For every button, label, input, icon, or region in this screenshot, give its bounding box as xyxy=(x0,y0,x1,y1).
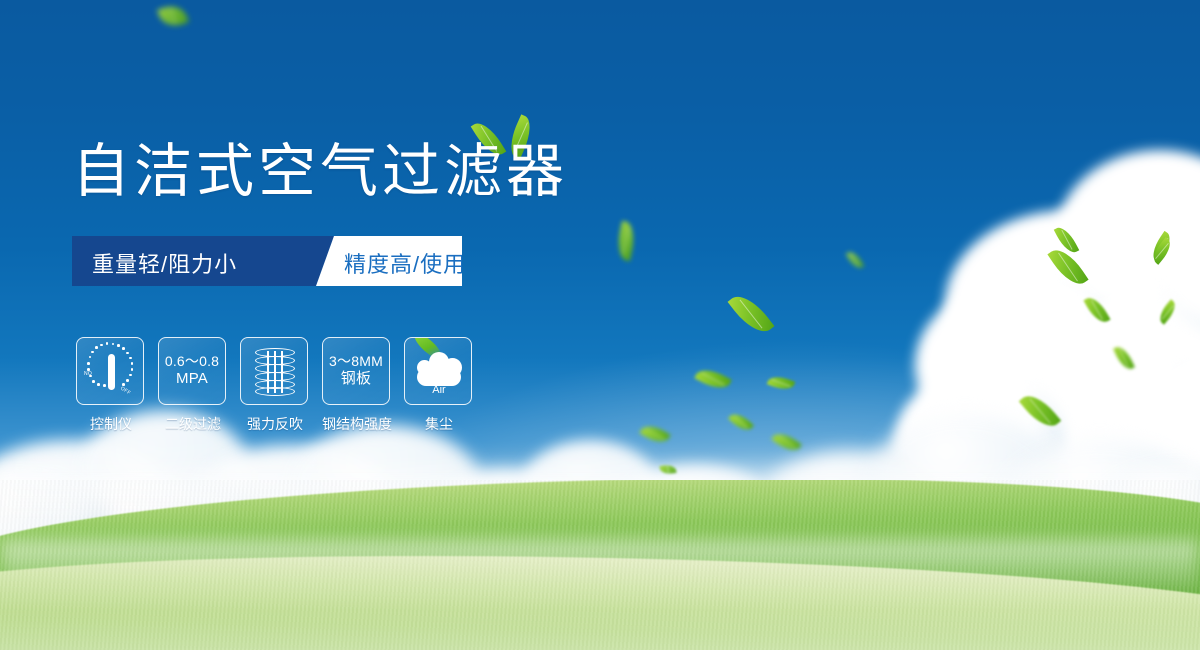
steel-plate-text-icon: 3～8MM 钢板 xyxy=(323,338,389,404)
gauge-label-no: NO xyxy=(84,371,92,377)
feature-icon-box: 3～8MM 钢板 xyxy=(322,337,390,405)
gauge-icon: NO OFF xyxy=(77,338,144,405)
tagline-bar: 重量轻/阻力小 精度高/使用方便 xyxy=(72,236,462,286)
feature-item-control-instrument[interactable]: NO OFF 控制仪 xyxy=(76,337,146,434)
steel-line-1: 3～8MM xyxy=(329,353,383,371)
feature-list: NO OFF 控制仪 0.6～0.8 MPA 二级过滤 xyxy=(76,337,474,434)
pressure-line-1: 0.6～0.8 xyxy=(165,353,219,371)
tagline-left-panel: 重量轻/阻力小 xyxy=(72,236,334,286)
coil-icon xyxy=(255,348,295,396)
feature-item-secondary-filtration[interactable]: 0.6～0.8 MPA 二级过滤 xyxy=(158,337,228,434)
feature-caption: 钢结构强度 xyxy=(310,414,404,434)
feature-icon-box: 0.6～0.8 MPA xyxy=(158,337,226,405)
feature-item-dust-collection[interactable]: Air 集尘 xyxy=(404,337,474,434)
feature-caption: 控制仪 xyxy=(76,414,146,434)
tagline-right-panel: 精度高/使用方便 xyxy=(316,236,462,286)
feature-icon-box xyxy=(240,337,308,405)
feature-item-steel-structure-strength[interactable]: 3～8MM 钢板 钢结构强度 xyxy=(322,337,392,434)
feature-icon-box: NO OFF xyxy=(76,337,144,405)
product-hero-banner: 自洁式空气过滤器 重量轻/阻力小 精度高/使用方便 xyxy=(0,0,1200,650)
air-badge-label: Air xyxy=(405,384,472,396)
feature-caption: 集尘 xyxy=(404,414,474,434)
steel-line-2: 钢板 xyxy=(341,370,371,389)
pressure-text-icon: 0.6～0.8 MPA xyxy=(159,338,225,404)
gauge-label-off: OFF xyxy=(119,386,131,397)
page-title: 自洁式空气过滤器 xyxy=(72,143,568,201)
pressure-line-2: MPA xyxy=(176,370,208,389)
gauge-needle xyxy=(108,354,115,390)
feature-caption: 二级过滤 xyxy=(158,414,228,434)
tagline-left-text: 重量轻/阻力小 xyxy=(92,247,237,279)
feature-icon-box: Air xyxy=(404,337,472,405)
feature-item-strong-backblow[interactable]: 强力反吹 xyxy=(240,337,310,434)
bottom-fade xyxy=(0,610,1200,650)
air-cloud-icon: Air xyxy=(405,338,472,405)
feature-caption: 强力反吹 xyxy=(240,414,310,434)
